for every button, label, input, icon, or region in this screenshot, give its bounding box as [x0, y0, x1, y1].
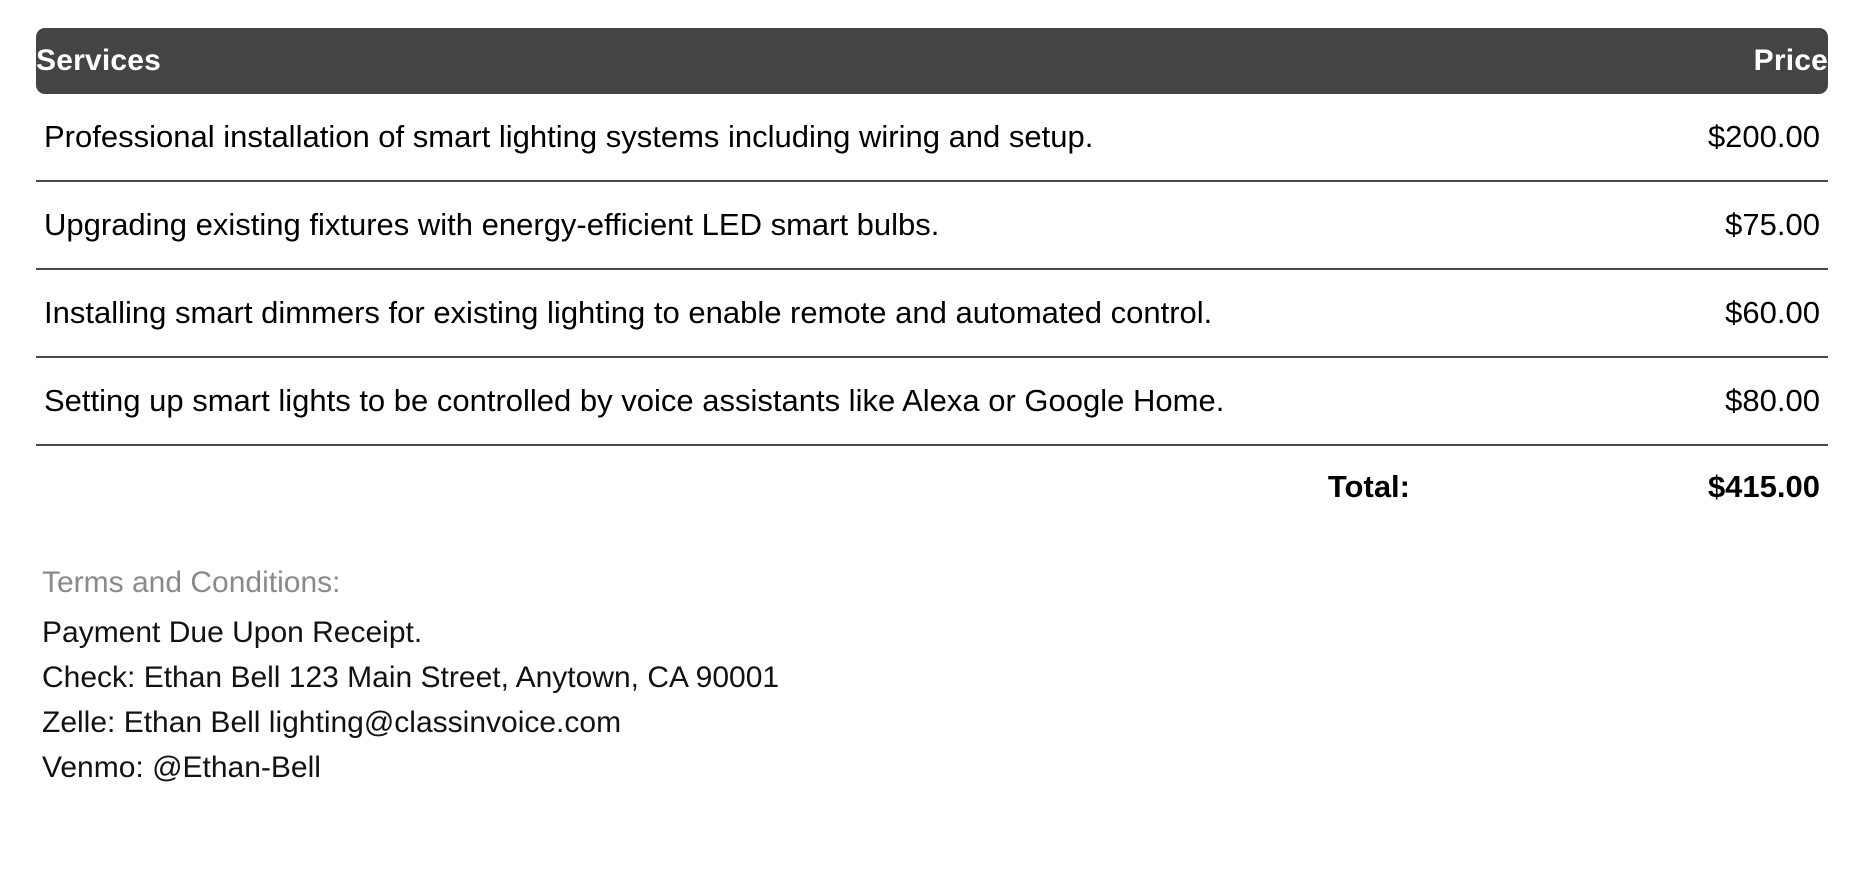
service-description: Upgrading existing fixtures with energy-… — [36, 181, 1466, 269]
column-header-services: Services — [36, 28, 1466, 94]
column-header-services-label: Services — [36, 44, 161, 77]
table-total-row: Total: $415.00 — [36, 445, 1828, 528]
services-table: Services Price Professional installation… — [36, 28, 1828, 528]
invoice-services-section: Services Price Professional installation… — [0, 0, 1868, 870]
service-price: $60.00 — [1466, 269, 1828, 357]
table-row: Installing smart dimmers for existing li… — [36, 269, 1828, 357]
terms-line: Zelle: Ethan Bell lighting@classinvoice.… — [42, 700, 1828, 745]
terms-title: Terms and Conditions: — [42, 566, 1828, 600]
service-price: $200.00 — [1466, 94, 1828, 181]
table-row: Upgrading existing fixtures with energy-… — [36, 181, 1828, 269]
total-value: $415.00 — [1466, 445, 1828, 528]
terms-line: Payment Due Upon Receipt. — [42, 610, 1828, 655]
service-description: Professional installation of smart light… — [36, 94, 1466, 181]
service-price: $75.00 — [1466, 181, 1828, 269]
table-row: Setting up smart lights to be controlled… — [36, 357, 1828, 445]
table-row: Professional installation of smart light… — [36, 94, 1828, 181]
terms-line: Check: Ethan Bell 123 Main Street, Anyto… — [42, 655, 1828, 700]
terms-line: Venmo: @Ethan-Bell — [42, 745, 1828, 790]
service-price: $80.00 — [1466, 357, 1828, 445]
column-header-price: Price — [1466, 28, 1828, 94]
terms-and-conditions-section: Terms and Conditions: Payment Due Upon R… — [36, 566, 1828, 790]
table-header-row: Services Price — [36, 28, 1828, 94]
service-description: Setting up smart lights to be controlled… — [36, 357, 1466, 445]
total-label: Total: — [36, 445, 1466, 528]
service-description: Installing smart dimmers for existing li… — [36, 269, 1466, 357]
column-header-price-label: Price — [1754, 44, 1828, 77]
